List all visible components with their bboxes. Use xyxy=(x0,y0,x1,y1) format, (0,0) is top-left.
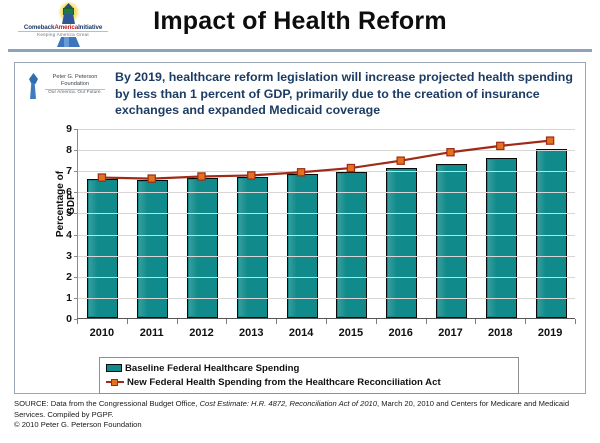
chart-container: Peter G. Peterson Foundation Our America… xyxy=(14,62,586,394)
data-point-marker xyxy=(397,157,404,164)
chart-legend: Baseline Federal Healthcare Spending New… xyxy=(99,357,519,394)
y-axis-tick-label: 9 xyxy=(66,124,72,135)
x-axis-tickmark xyxy=(226,319,227,324)
legend-item-baseline: Baseline Federal Healthcare Spending xyxy=(106,361,512,375)
x-axis-tick-label: 2011 xyxy=(140,327,164,339)
y-axis-tick-label: 5 xyxy=(66,208,72,219)
y-axis-tick-label: 0 xyxy=(66,314,72,325)
source-line1-a: SOURCE: Data from the Congressional Budg… xyxy=(14,399,200,408)
peterson-foundation-logo: Peter G. Peterson Foundation Our America… xyxy=(23,69,109,103)
x-axis-tickmark xyxy=(326,319,327,324)
x-axis-tick-label: 2013 xyxy=(239,327,263,339)
header-divider xyxy=(8,49,592,52)
torch-flame-icon xyxy=(29,73,38,84)
x-axis-tickmark xyxy=(475,319,476,324)
x-axis-tickmark xyxy=(525,319,526,324)
x-axis-tick-label: 2015 xyxy=(339,327,363,339)
data-point-marker xyxy=(148,175,155,182)
slide: ComebackAmericaInitiative Keeping Americ… xyxy=(0,0,600,443)
pgpf-name-line2: Foundation xyxy=(43,81,107,88)
x-axis-tickmark xyxy=(177,319,178,324)
x-axis-ticks xyxy=(77,319,575,326)
data-point-marker xyxy=(447,149,454,156)
chart-headline: By 2019, healthcare reform legislation w… xyxy=(115,69,577,119)
data-point-marker xyxy=(547,137,554,144)
data-point-marker xyxy=(298,169,305,176)
legend-line-swatch-icon xyxy=(106,378,124,386)
trend-line xyxy=(102,141,550,179)
x-axis-tick-label: 2014 xyxy=(289,327,313,339)
source-copyright: © 2010 Peter G. Peterson Foundation xyxy=(14,420,586,431)
y-axis-tick-label: 2 xyxy=(66,272,72,283)
pgpf-name-line1: Peter G. Peterson xyxy=(43,74,107,81)
x-axis-tick-label: 2016 xyxy=(388,327,412,339)
y-axis-tick-label: 3 xyxy=(66,250,72,261)
plot-area-wrapper: Percentage of GDP 0123456789 20102011201… xyxy=(15,129,587,329)
slide-header: ComebackAmericaInitiative Keeping Americ… xyxy=(0,0,600,46)
legend-item-new-spending: New Federal Health Spending from the Hea… xyxy=(106,375,512,389)
x-axis-tickmark xyxy=(276,319,277,324)
data-point-marker xyxy=(98,174,105,181)
x-axis-tick-label: 2017 xyxy=(438,327,462,339)
x-axis-tickmark xyxy=(575,319,576,324)
pgpf-name: Peter G. Peterson Foundation xyxy=(43,74,107,88)
torch-icon xyxy=(25,73,41,99)
y-axis-tick-label: 8 xyxy=(66,145,72,156)
data-point-marker xyxy=(347,164,354,171)
y-axis-ticks: 0123456789 xyxy=(53,129,75,329)
y-axis-tick-label: 6 xyxy=(66,187,72,198)
x-axis-tick-label: 2012 xyxy=(189,327,213,339)
y-axis-tick-label: 4 xyxy=(66,229,72,240)
x-axis-tickmark xyxy=(376,319,377,324)
data-point-marker xyxy=(198,173,205,180)
source-line1-italic: Cost Estimate: H.R. 4872, Reconciliation… xyxy=(200,399,377,408)
data-point-marker xyxy=(248,172,255,179)
pgpf-tagline: Our America. Our Future. xyxy=(43,90,107,95)
x-axis-tick-label: 2019 xyxy=(538,327,562,339)
legend-bar-swatch-icon xyxy=(106,364,122,372)
x-axis-tickmark xyxy=(127,319,128,324)
legend-label-new-spending: New Federal Health Spending from the Hea… xyxy=(127,377,441,388)
lighthouse-base-highlight-icon xyxy=(64,37,69,47)
legend-label-baseline: Baseline Federal Healthcare Spending xyxy=(125,363,299,374)
x-axis-tickmark xyxy=(426,319,427,324)
source-note: SOURCE: Data from the Congressional Budg… xyxy=(14,399,586,431)
y-axis-tick-label: 7 xyxy=(66,166,72,177)
x-axis-tickmark xyxy=(77,319,78,324)
y-axis-tick-label: 1 xyxy=(66,293,72,304)
data-point-marker xyxy=(497,142,504,149)
line-series xyxy=(77,129,575,319)
x-axis-tick-label: 2018 xyxy=(488,327,512,339)
x-axis-labels: 2010201120122013201420152016201720182019 xyxy=(77,327,575,343)
page-title: Impact of Health Reform xyxy=(0,7,600,36)
x-axis-tick-label: 2010 xyxy=(90,327,114,339)
torch-stem-icon xyxy=(30,83,36,99)
